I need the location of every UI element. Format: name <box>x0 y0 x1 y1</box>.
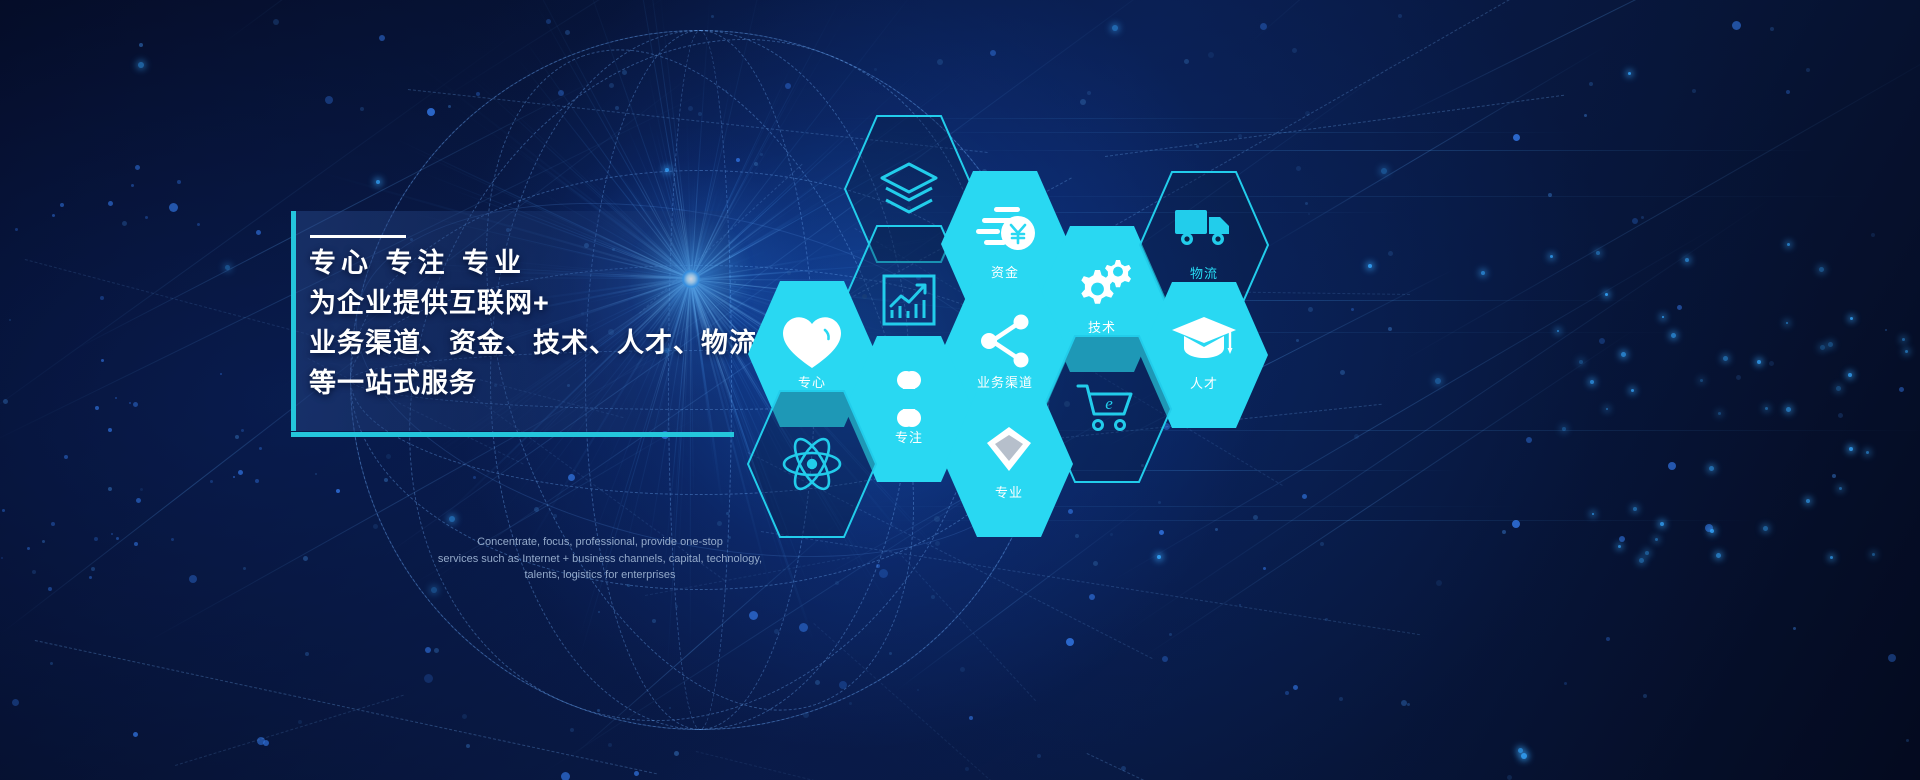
svg-text:e: e <box>1105 394 1113 413</box>
money-yen-icon <box>974 203 1036 255</box>
clover-icon <box>878 368 940 430</box>
layers-icon <box>878 160 940 218</box>
hexagon-cluster: 资金技术物流专心业务渠道人才专注e专业 <box>0 0 1920 780</box>
hexagon-label: 专业 <box>945 482 1073 501</box>
heart-icon <box>780 313 844 371</box>
chart-growth-icon <box>880 270 938 328</box>
atom-icon <box>781 435 843 493</box>
banner-stage: 专心 专注 专业 为企业提供互联网+ 业务渠道、资金、技术、人才、物流 等一站式… <box>0 0 1920 780</box>
graduation-cap-icon <box>1171 314 1237 364</box>
hexagon-pro[interactable]: 专业 <box>945 391 1073 537</box>
diamond-icon <box>983 423 1035 475</box>
hexagon-atom[interactable] <box>748 391 876 537</box>
share-network-icon <box>976 313 1034 369</box>
shopping-cart-icon: e <box>1076 380 1138 432</box>
gears-icon <box>1071 258 1133 314</box>
truck-icon <box>1173 204 1235 250</box>
hexagon-label: 物流 <box>1140 263 1268 282</box>
